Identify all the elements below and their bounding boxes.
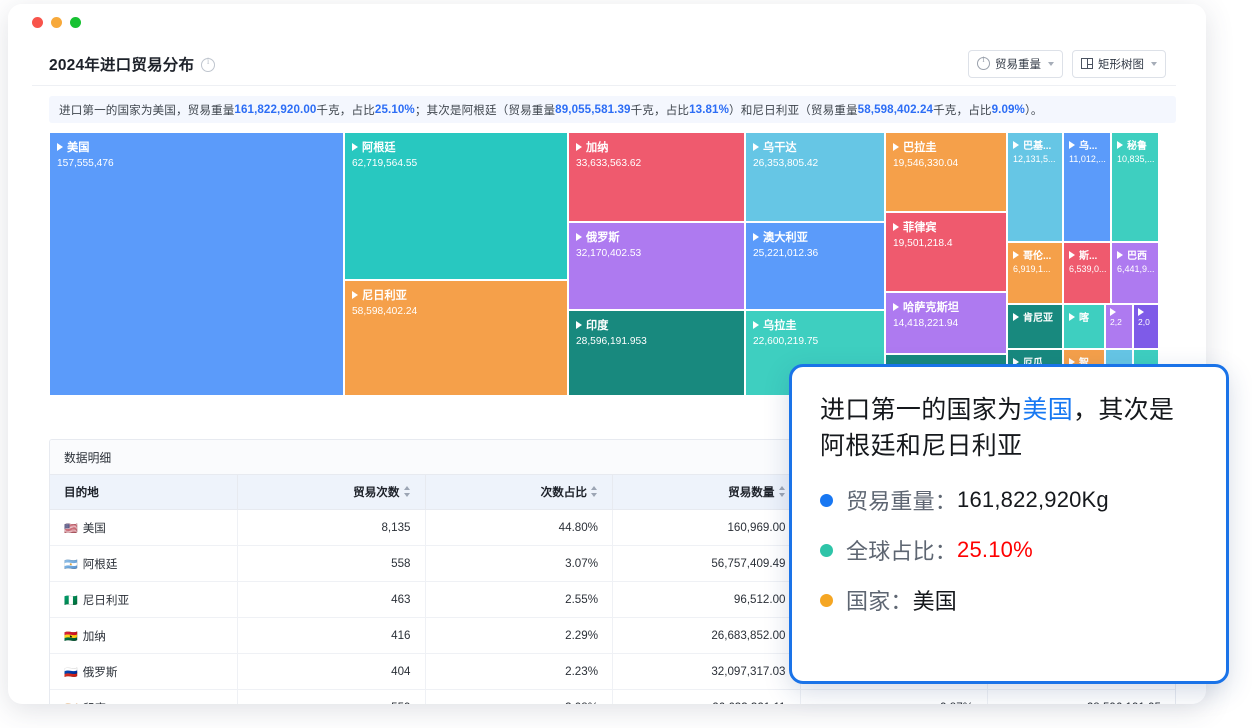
treemap-tile-name: 尼日利亚 [362, 287, 407, 303]
treemap-tile[interactable]: 巴拉圭19,546,330.04 [885, 132, 1007, 212]
country-flag-icon: 🇺🇸 [64, 522, 78, 535]
treemap-tile[interactable]: 斯...6,539,0... [1063, 242, 1111, 304]
triangle-right-icon [352, 291, 358, 299]
table-cell-dest: 🇳🇬尼日利亚 [50, 582, 238, 618]
treemap-tile[interactable]: 美国157,555,476 [49, 132, 344, 396]
treemap-tile-label: 哈萨克斯坦 [893, 299, 1006, 315]
triangle-right-icon [1110, 308, 1116, 316]
treemap-tile-value: 2,0 [1138, 317, 1158, 327]
treemap-tile-label: 巴基... [1013, 137, 1062, 152]
triangle-right-icon [893, 223, 899, 231]
treemap-tile[interactable]: 哥伦...6,919,1... [1007, 242, 1063, 304]
chart-type-select-button[interactable]: 矩形树图 [1072, 50, 1166, 78]
table-cell-dest: 🇮🇳印度 [50, 690, 238, 705]
table-cell-trade_pct: 2.23% [425, 654, 613, 690]
page-title: 2024年进口贸易分布 [49, 53, 194, 75]
bullet-dot-icon [820, 544, 833, 557]
table-cell-qty: 160,969.00 [613, 510, 801, 546]
bullet-dot-icon [820, 594, 833, 607]
treemap-tile[interactable]: 乌...11,012,... [1063, 132, 1111, 242]
triangle-right-icon [1013, 251, 1019, 259]
table-cell-qty: 26,683,852.00 [613, 618, 801, 654]
sort-arrows-icon[interactable] [779, 486, 786, 497]
triangle-right-icon [753, 233, 759, 241]
table-cell-trades: 558 [238, 546, 426, 582]
table-column-header[interactable]: 贸易次数 [238, 475, 426, 510]
insight-value-3: 89,055,581.39 [555, 103, 630, 116]
table-cell-qty: 96,512.00 [613, 582, 801, 618]
triangle-right-icon [1117, 141, 1123, 149]
table-cell-trade_pct: 3.08% [425, 690, 613, 705]
treemap-tile-value: 6,441,9... [1117, 264, 1158, 274]
treemap-tile-name: 美国 [67, 139, 89, 155]
treemap-tile-label: 肯尼亚 [1013, 309, 1062, 324]
chevron-down-icon [1151, 62, 1157, 66]
treemap-tile-label: 加纳 [576, 139, 744, 155]
table-column-header[interactable]: 次数占比 [425, 475, 613, 510]
treemap-tile[interactable]: 印度28,596,191.953 [568, 310, 745, 396]
treemap-tile[interactable]: 加纳33,633,563.62 [568, 132, 745, 222]
table-column-header-label: 次数占比 [541, 486, 587, 499]
treemap-tile-value: 6,919,1... [1013, 264, 1062, 274]
insight-text-2: 千克，占比 [316, 102, 374, 118]
triangle-right-icon [576, 143, 582, 151]
treemap-tile-value: 26,353,805.42 [753, 158, 884, 169]
table-cell-dest: 🇺🇸美国 [50, 510, 238, 546]
table-cell-trade_pct: 2.55% [425, 582, 613, 618]
table-column-header: 目的地 [50, 475, 238, 510]
table-cell-trades: 8,135 [238, 510, 426, 546]
maximize-window-button[interactable] [70, 17, 81, 28]
country-flag-icon: 🇷🇺 [64, 666, 78, 679]
triangle-right-icon [753, 321, 759, 329]
triangle-right-icon [1069, 251, 1075, 259]
triangle-right-icon [1069, 141, 1075, 149]
country-flag-icon: 🇦🇷 [64, 558, 78, 571]
tooltip-metric-key: 贸易重量： [846, 484, 957, 516]
table-cell-trades: 404 [238, 654, 426, 690]
insight-banner: 进口第一的国家为美国，贸易重量161,822,920.00千克，占比25.10%… [49, 96, 1176, 123]
treemap-tile-value: 12,131,5... [1013, 154, 1062, 164]
card-header: 2024年进口贸易分布 贸易重量 矩形树图 [32, 42, 1176, 86]
tooltip-headline: 进口第一的国家为美国，其次是阿根廷和尼日利亚 [820, 393, 1198, 464]
treemap-tile[interactable]: 2,2 [1105, 304, 1133, 349]
treemap-tile-label: 乌拉圭 [753, 317, 884, 333]
treemap-tile[interactable]: 尼日利亚58,598,402.24 [344, 280, 568, 396]
treemap-tile-value: 58,598,402.24 [352, 306, 567, 317]
insight-value-1: 161,822,920.00 [234, 103, 316, 116]
table-cell-dest: 🇷🇺俄罗斯 [50, 654, 238, 690]
triangle-right-icon [893, 143, 899, 151]
metric-select-label: 贸易重量 [995, 56, 1041, 72]
chart-type-label: 矩形树图 [1098, 56, 1144, 72]
treemap-tile-name: 澳大利亚 [763, 229, 808, 245]
treemap-tile-label: 喀 [1069, 309, 1104, 324]
treemap-tile-value: 19,501,218.4 [893, 238, 1006, 249]
treemap-tile-name: 哥伦... [1023, 247, 1051, 262]
treemap-tile[interactable]: 巴基...12,131,5... [1007, 132, 1063, 242]
table-column-header-label: 贸易数量 [728, 486, 774, 499]
treemap-tile-label: 哥伦... [1013, 247, 1062, 262]
country-flag-icon: 🇳🇬 [64, 594, 78, 607]
treemap-chart[interactable]: 美国157,555,476阿根廷62,719,564.55尼日利亚58,598,… [49, 132, 1159, 396]
treemap-tile-value: 6,539,0... [1069, 264, 1110, 274]
chart-tooltip-card: 进口第一的国家为美国，其次是阿根廷和尼日利亚 贸易重量：161,822,920K… [789, 364, 1229, 684]
destination-name: 加纳 [83, 630, 106, 643]
table-cell-qty: 32,097,317.03 [613, 654, 801, 690]
triangle-right-icon [57, 143, 63, 151]
treemap-tile-name: 加纳 [586, 139, 608, 155]
triangle-right-icon [1013, 313, 1019, 321]
table-cell-trades: 416 [238, 618, 426, 654]
treemap-tile[interactable]: 喀 [1063, 304, 1105, 349]
triangle-right-icon [1138, 308, 1144, 316]
tooltip-metric-row: 国家：美国 [820, 584, 1198, 616]
treemap-tile-label: 美国 [57, 139, 343, 155]
treemap-tile-name: 秘鲁 [1127, 137, 1147, 152]
treemap-tile-name: 俄罗斯 [586, 229, 620, 245]
treemap-tile-name: 巴基... [1023, 137, 1051, 152]
treemap-tile-value: 62,719,564.55 [352, 158, 567, 169]
table-cell-dest: 🇬🇭加纳 [50, 618, 238, 654]
treemap-tile-label: 印度 [576, 317, 744, 333]
insight-value-6: 9.09% [992, 103, 1025, 116]
treemap-tile-name: 巴拉圭 [903, 139, 937, 155]
insight-text-4: 千克，占比 [631, 102, 689, 118]
destination-name: 尼日利亚 [83, 594, 129, 607]
treemap-tile-value: 32,170,402.53 [576, 248, 744, 259]
close-window-button[interactable] [32, 17, 43, 28]
treemap-tile-label [1110, 308, 1132, 316]
table-cell-qty: 56,757,409.49 [613, 546, 801, 582]
tooltip-metric-value: 161,822,920Kg [957, 487, 1109, 513]
insight-text-7: ）。 [1025, 102, 1043, 118]
treemap-tile-label: 巴拉圭 [893, 139, 1006, 155]
table-column-header[interactable]: 贸易数量 [613, 475, 801, 510]
treemap-tile[interactable]: 菲律宾19,501,218.4 [885, 212, 1007, 292]
treemap-tile-label: 澳大利亚 [753, 229, 884, 245]
treemap-tile-label: 斯... [1069, 247, 1110, 262]
table-cell-trade_pct: 44.80% [425, 510, 613, 546]
treemap-tile-value: 33,633,563.62 [576, 158, 744, 169]
sort-arrows-icon[interactable] [591, 486, 598, 497]
triangle-right-icon [1013, 141, 1019, 149]
destination-name: 俄罗斯 [83, 666, 118, 679]
table-cell-dest: 🇦🇷阿根廷 [50, 546, 238, 582]
treemap-tile-name: 菲律宾 [903, 219, 937, 235]
treemap-tile-value: 28,596,191.953 [576, 336, 744, 347]
treemap-tile-name: 喀 [1079, 309, 1089, 324]
triangle-right-icon [352, 143, 358, 151]
treemap-tile[interactable]: 澳大利亚25,221,012.36 [745, 222, 885, 310]
tooltip-metric-value: 美国 [913, 584, 957, 616]
minimize-window-button[interactable] [51, 17, 62, 28]
treemap-tile-value: 2,2 [1110, 317, 1132, 327]
treemap-tile-name: 乌拉圭 [763, 317, 797, 333]
treemap-tile-label: 俄罗斯 [576, 229, 744, 245]
insight-value-2: 25.10% [375, 103, 415, 116]
treemap-tile-label: 巴西 [1117, 247, 1158, 262]
table-cell-weight: 28,596,191.95 [988, 690, 1176, 705]
country-flag-icon: 🇬🇭 [64, 630, 78, 643]
treemap-tile[interactable]: 肯尼亚 [1007, 304, 1063, 349]
treemap-tile-label [1138, 308, 1158, 316]
treemap-tile-label: 乌干达 [753, 139, 884, 155]
treemap-tile[interactable]: 俄罗斯32,170,402.53 [568, 222, 745, 310]
treemap-tile-label: 尼日利亚 [352, 287, 567, 303]
treemap-tile-name: 斯... [1079, 247, 1097, 262]
table-cell-trades: 463 [238, 582, 426, 618]
triangle-right-icon [576, 233, 582, 241]
treemap-tile-value: 25,221,012.36 [753, 248, 884, 259]
tooltip-metric-key: 国家： [846, 584, 913, 616]
table-cell-trades: 559 [238, 690, 426, 705]
tooltip-metric-row: 全球占比：25.10% [820, 534, 1198, 566]
treemap-tile[interactable]: 哈萨克斯坦14,418,221.94 [885, 292, 1007, 354]
triangle-right-icon [1069, 313, 1075, 321]
treemap-tile-label: 秘鲁 [1117, 137, 1158, 152]
metric-select-button[interactable]: 贸易重量 [968, 50, 1063, 78]
title-bar [8, 4, 1206, 34]
info-circle-icon[interactable] [201, 58, 215, 72]
treemap-tile[interactable]: 乌干达26,353,805.42 [745, 132, 885, 222]
table-cell-qty: 26,633,321.11 [613, 690, 801, 705]
destination-name: 美国 [83, 522, 106, 535]
insight-text-6: 千克，占比 [933, 102, 991, 118]
triangle-right-icon [576, 321, 582, 329]
treemap-tile-name: 哈萨克斯坦 [903, 299, 959, 315]
tooltip-metric-row: 贸易重量：161,822,920Kg [820, 484, 1198, 516]
treemap-tile-value: 14,418,221.94 [893, 318, 1006, 329]
insight-value-4: 13.81% [689, 103, 729, 116]
treemap-tile-value: 11,012,... [1069, 154, 1110, 164]
table-cell-trade_pct: 2.29% [425, 618, 613, 654]
table-cell-qty_pct: 9.87% [800, 690, 988, 705]
insight-text-5: ）和尼日利亚（贸易重量 [729, 102, 858, 118]
treemap-tile-name: 乌干达 [763, 139, 797, 155]
grid-icon [1081, 58, 1093, 69]
info-circle-icon [977, 57, 990, 70]
treemap-tile-label: 乌... [1069, 137, 1110, 152]
sort-arrows-icon[interactable] [404, 486, 411, 497]
treemap-tile-name: 印度 [586, 317, 608, 333]
treemap-tile-name: 巴西 [1127, 247, 1147, 262]
triangle-right-icon [753, 143, 759, 151]
insight-value-5: 58,598,402.24 [858, 103, 933, 116]
destination-name: 印度 [83, 702, 106, 705]
chevron-down-icon [1048, 62, 1054, 66]
treemap-tile[interactable]: 巴西6,441,9... [1111, 242, 1159, 304]
insight-text-1: 进口第一的国家为美国，贸易重量 [59, 102, 234, 118]
destination-name: 阿根廷 [83, 558, 118, 571]
table-column-header-label: 目的地 [64, 486, 99, 499]
triangle-right-icon [893, 303, 899, 311]
treemap-tile[interactable]: 2,0 [1133, 304, 1159, 349]
insight-text-3: ；其次是阿根廷（贸易重量 [415, 102, 555, 118]
table-column-header-label: 贸易次数 [353, 486, 399, 499]
country-flag-icon: 🇮🇳 [64, 702, 78, 705]
treemap-tile-label: 阿根廷 [352, 139, 567, 155]
tooltip-metric-value: 25.10% [957, 537, 1033, 563]
bullet-dot-icon [820, 494, 833, 507]
triangle-right-icon [1117, 251, 1123, 259]
treemap-tile[interactable]: 秘鲁10,835,... [1111, 132, 1159, 242]
table-row[interactable]: 🇮🇳印度5593.08%26,633,321.119.87%28,596,191… [50, 690, 1175, 705]
treemap-tile-name: 肯尼亚 [1023, 309, 1053, 324]
treemap-tile-value: 157,555,476 [57, 158, 343, 169]
treemap-tile[interactable]: 阿根廷62,719,564.55 [344, 132, 568, 280]
treemap-tile-value: 10,835,... [1117, 154, 1158, 164]
treemap-tile-value: 19,546,330.04 [893, 158, 1006, 169]
table-cell-trade_pct: 3.07% [425, 546, 613, 582]
tooltip-headline-pre: 进口第一的国家为 [820, 396, 1022, 424]
tooltip-headline-highlight: 美国 [1022, 396, 1073, 424]
tooltip-metric-list: 贸易重量：161,822,920Kg全球占比：25.10%国家：美国 [820, 484, 1198, 616]
treemap-tile-label: 菲律宾 [893, 219, 1006, 235]
treemap-tile-name: 阿根廷 [362, 139, 396, 155]
treemap-tile-value: 22,600,219.75 [753, 336, 884, 347]
tooltip-metric-key: 全球占比： [846, 534, 957, 566]
treemap-tile-name: 乌... [1079, 137, 1097, 152]
